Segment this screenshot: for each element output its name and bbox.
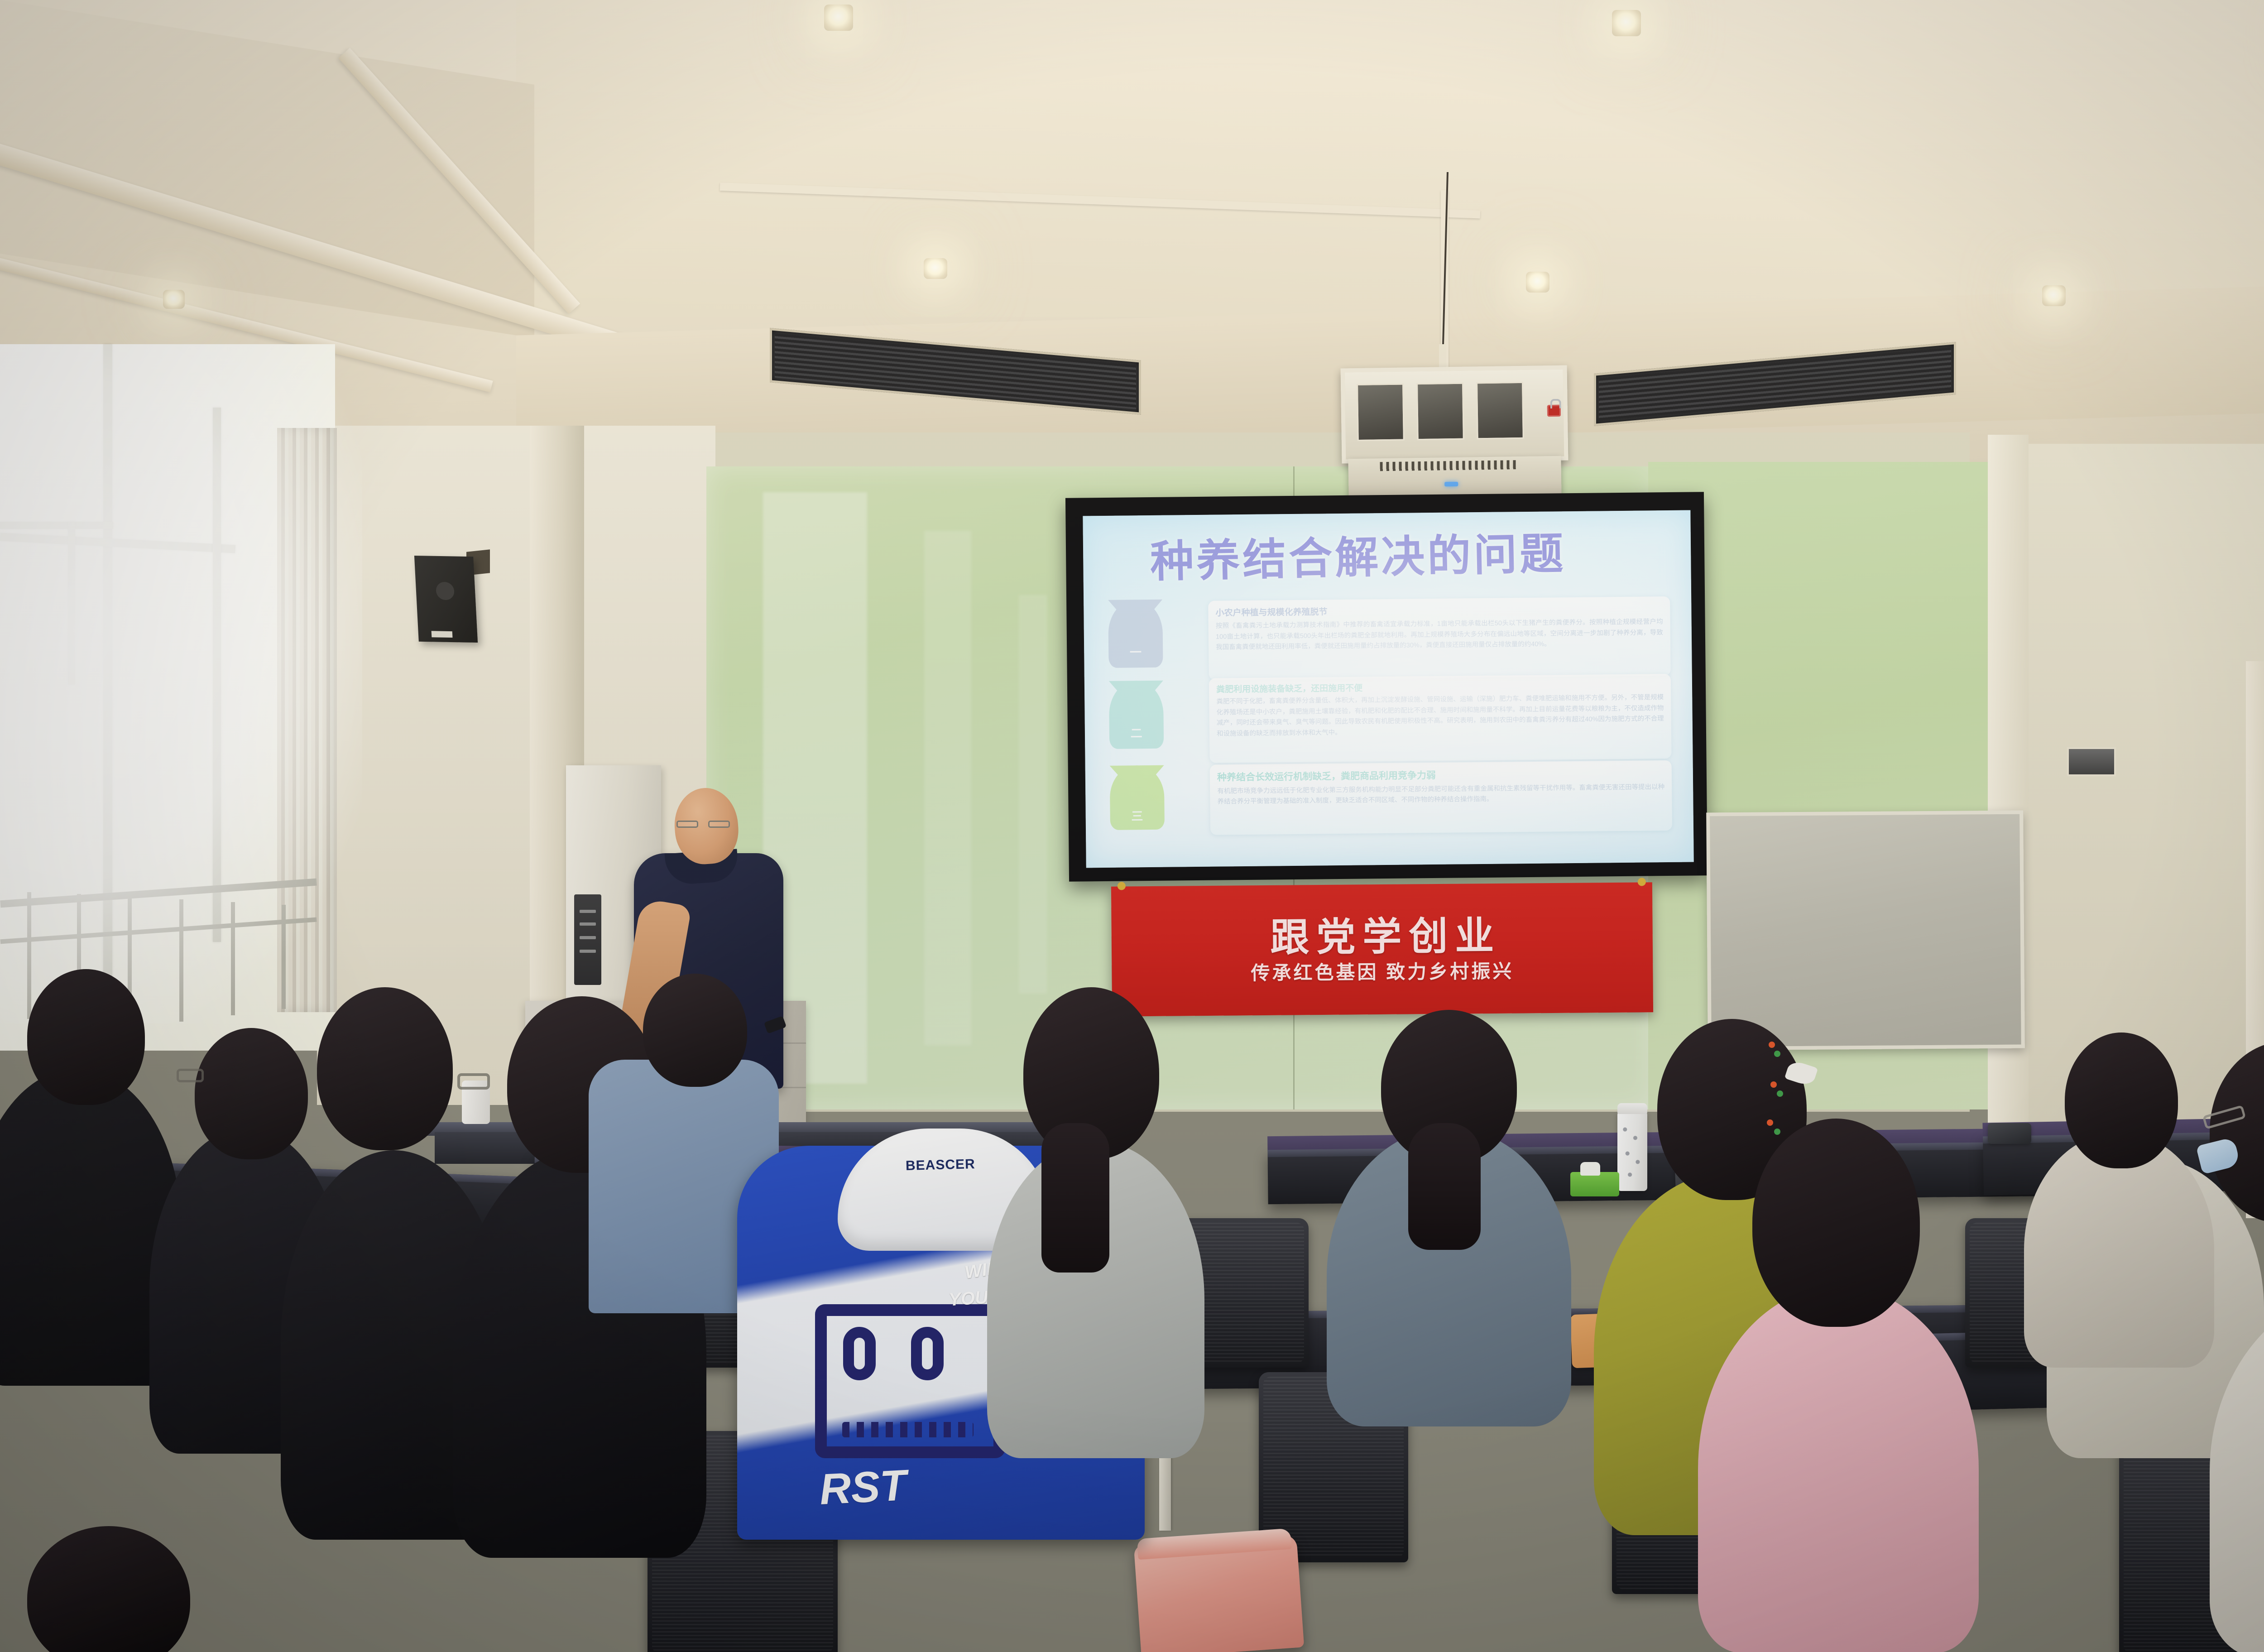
- wall-control-panel[interactable]: [2067, 747, 2116, 776]
- projector-vents: [1380, 460, 1516, 471]
- lunchbox-lid: [1137, 1528, 1292, 1560]
- audience-head: [317, 987, 453, 1150]
- slide-panel-1: 小农户种植与规模化养殖脱节 按照《畜禽粪污土地承载力测算技术指南》中推荐的畜禽适…: [1208, 596, 1671, 680]
- banner-main-text: 跟党学创业: [1270, 916, 1501, 957]
- hair-clip: [1767, 1119, 1773, 1126]
- ponytail: [1408, 1123, 1481, 1250]
- speaker-cone: [436, 582, 455, 600]
- slide-panel-3: 种养结合长效运行机制缺乏，粪肥商品利用竞争力弱 有机肥市场竞争力远远低于化肥专业…: [1210, 760, 1672, 835]
- glasses-icon: [177, 1069, 204, 1082]
- slide-chevron-3: 三: [1109, 765, 1164, 796]
- slide-panel-heading: 粪肥利用设施装备缺乏，还田施用不便: [1216, 678, 1664, 695]
- hair-clip: [1774, 1129, 1780, 1135]
- audience-body: [1698, 1286, 1979, 1652]
- whiteboard: [1706, 811, 2025, 1051]
- slide-surface: 种养结合解决的问题 一 小农户种植与规模化养殖脱节 按照《畜禽粪污土地承载力测算…: [1083, 510, 1693, 868]
- hoodie-scrawl-bottom: RST: [818, 1460, 907, 1515]
- chevron-number: 二: [1109, 724, 1163, 741]
- glasses-icon: [675, 821, 735, 828]
- audience-head: [1752, 1119, 1920, 1327]
- slide-chevron-2: 二: [1109, 681, 1164, 713]
- chevron-number: 三: [1110, 807, 1164, 824]
- ceiling-downlight: [2042, 285, 2066, 306]
- slide-panel-heading: 小农户种植与规模化养殖脱节: [1215, 602, 1663, 618]
- ceiling-downlight: [924, 258, 947, 279]
- chevron-number: 一: [1108, 643, 1163, 660]
- padlock-icon: [1547, 405, 1561, 417]
- hoodie-graphic-mouth: [842, 1422, 974, 1437]
- ceiling-downlight: [1612, 10, 1641, 36]
- audience-head: [643, 974, 747, 1087]
- projector-security-cage: [1341, 365, 1568, 464]
- projector: [1348, 456, 1561, 498]
- audience-head: [27, 969, 145, 1105]
- hair-clip: [1774, 1051, 1780, 1057]
- ponytail: [1041, 1123, 1109, 1273]
- slide-panel-body: 粪肥不同于化肥，畜禽粪便养分含量低、体积大，再加上沉淀发酵设施、管网设施、运输（…: [1216, 692, 1664, 739]
- red-banner: 跟党学创业 传承红色基因 致力乡村振兴: [1111, 882, 1653, 1016]
- audience-head-foreground: [27, 1526, 190, 1652]
- ceiling-inner-panel: [516, 0, 2264, 317]
- cabinet-control-panel[interactable]: [574, 894, 601, 985]
- tissue-pack: [1570, 1172, 1619, 1196]
- bottle-pattern: [1620, 1117, 1645, 1187]
- water-bottle: [1617, 1110, 1647, 1191]
- slide-chevron-1: 一: [1108, 600, 1163, 632]
- classroom-photo-scene: 种养结合解决的问题 一 小农户种植与规模化养殖脱节 按照《畜禽粪污土地承载力测算…: [0, 0, 2264, 1652]
- ceiling-downlight: [824, 5, 853, 31]
- smartphone[interactable]: [1988, 1123, 2031, 1144]
- bottle-cap: [1617, 1103, 1647, 1114]
- hair-clip: [1777, 1090, 1783, 1097]
- slide-panel-2: 粪肥利用设施装备缺乏，还田施用不便 粪肥不同于化肥，畜禽粪便养分含量低、体积大，…: [1209, 674, 1672, 763]
- hoodie-graphic-eye: [843, 1327, 876, 1380]
- hair-clip: [1770, 1081, 1777, 1088]
- slide-title: 种养结合解决的问题: [1150, 532, 1566, 584]
- hoodie-graphic-eye: [911, 1327, 944, 1380]
- hair-clip: [1769, 1042, 1775, 1048]
- ceiling-downlight: [1526, 272, 1549, 293]
- glasses-icon: [457, 1073, 490, 1090]
- banner-sub-text: 传承红色基因 致力乡村振兴: [1251, 961, 1514, 983]
- speaker-label: [431, 631, 452, 638]
- audience-head: [195, 1028, 308, 1159]
- hoodie-brand-label: BEASCER: [906, 1157, 976, 1174]
- slide-panel-body: 有机肥市场竞争力远远低于化肥专业化第三方服务机构能力明显不足部分粪肥可能还含有重…: [1217, 782, 1664, 807]
- lunchbox: [1134, 1534, 1305, 1652]
- ceiling-downlight: [163, 290, 185, 309]
- wall-speaker: [414, 556, 478, 643]
- projector-power-led: [1444, 482, 1458, 486]
- slide-panel-body: 按照《畜禽粪污土地承载力测算技术指南》中推荐的畜禽适宜承载力标准，1亩地只能承载…: [1216, 617, 1664, 653]
- audience-head: [2065, 1032, 2178, 1168]
- projection-screen: 种养结合解决的问题 一 小农户种植与规模化养殖脱节 按照《畜禽粪污土地承载力测算…: [1065, 492, 1708, 881]
- slide-panel-heading: 种养结合长效运行机制缺乏，粪肥商品利用竞争力弱: [1217, 766, 1664, 783]
